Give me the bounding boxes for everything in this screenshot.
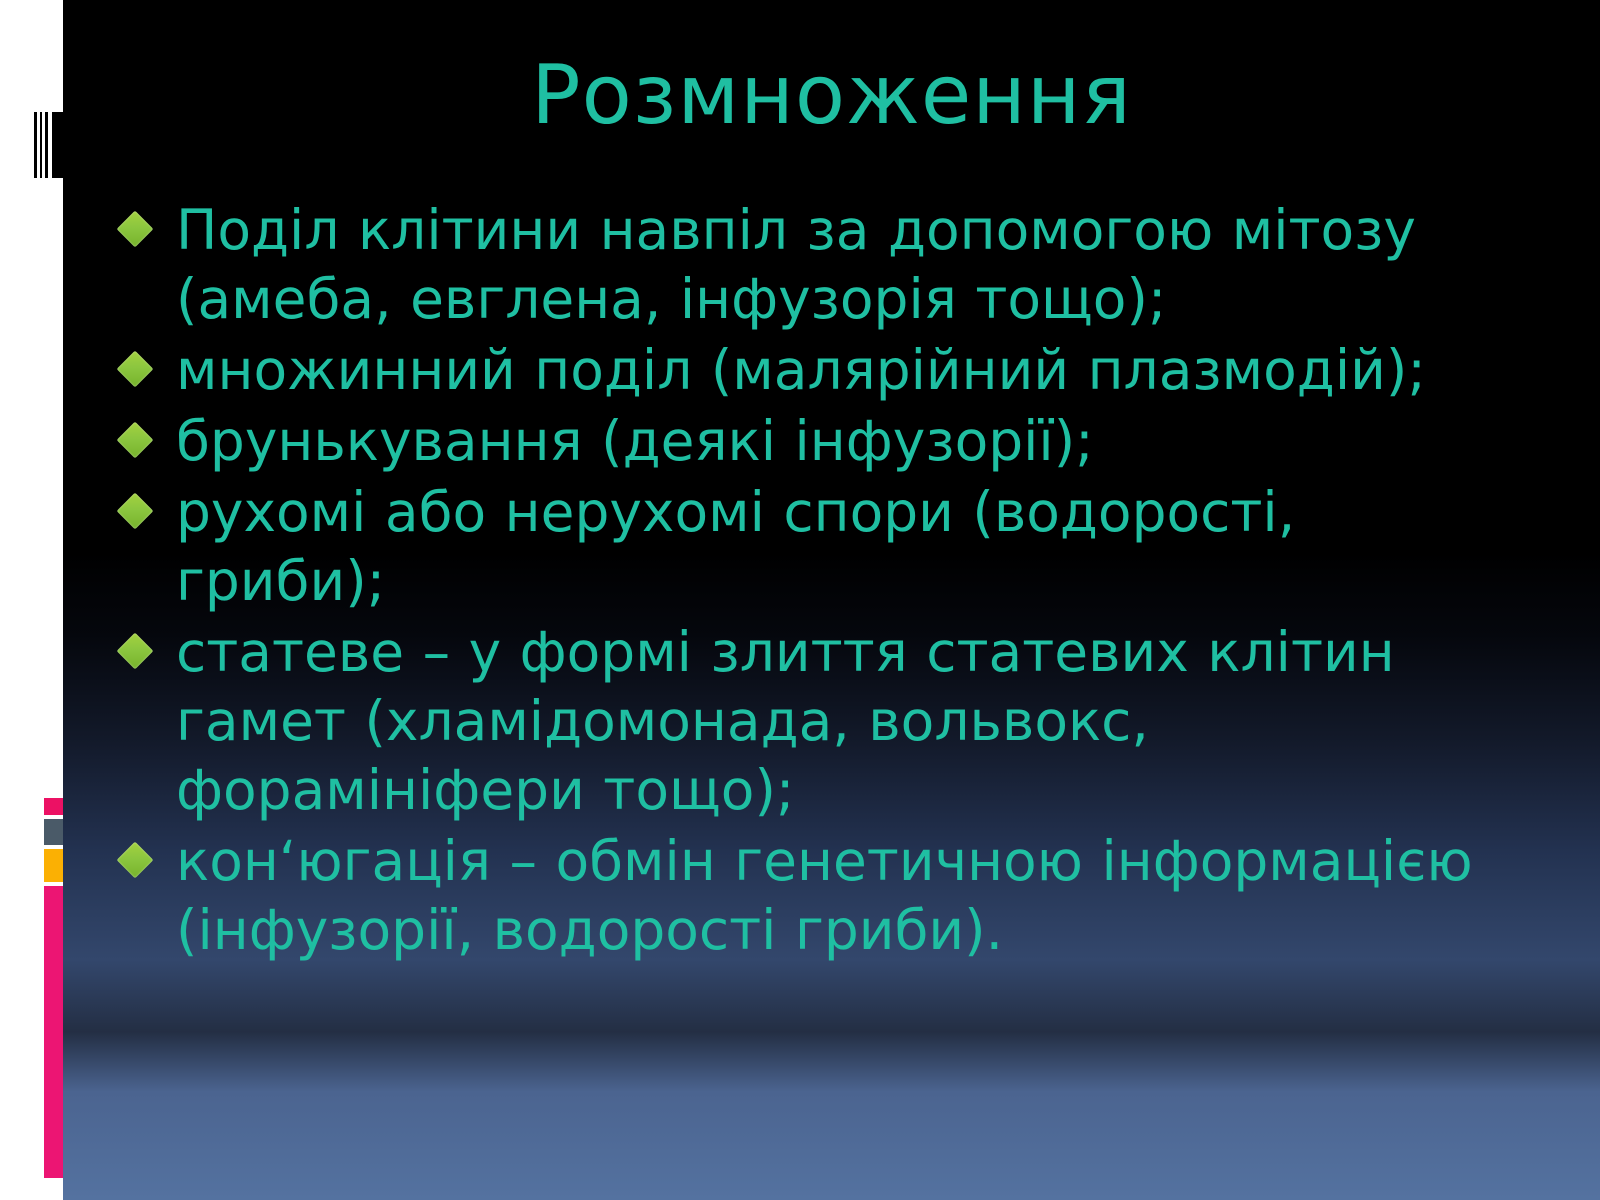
diamond-bullet-icon [118, 843, 154, 879]
slide-canvas: Розмноження Поділ клітини навпіл за допо… [0, 0, 1600, 1200]
list-item: Поділ клітини навпіл за допомогою мітозу… [118, 196, 1600, 334]
list-item-text: множинний поділ (малярійний плазмодій); [176, 336, 1600, 405]
diamond-bullet-icon [118, 634, 154, 670]
barcode-stripe [52, 112, 63, 178]
list-item-text: кон‘югація – обмін генетичною інформаціє… [176, 827, 1596, 965]
diamond-bullet-icon [118, 212, 154, 248]
list-item: брунькування (деякі інфузорії); [118, 407, 1600, 476]
list-item: статеве – у формі злиття статевих клітин… [118, 618, 1600, 825]
diamond-bullet-icon [118, 423, 154, 459]
slide-title: Розмноження [63, 48, 1600, 144]
rail-chip-pink-small [44, 798, 63, 815]
left-decorative-rail [0, 0, 63, 1200]
barcode-icon [34, 112, 63, 178]
diamond-bullet-icon [118, 352, 154, 388]
barcode-stripe [34, 112, 37, 178]
list-item: кон‘югація – обмін генетичною інформаціє… [118, 827, 1600, 965]
list-item: рухомі або нерухомі спори (водорості, гр… [118, 478, 1600, 616]
diamond-bullet-icon [118, 494, 154, 530]
bullet-list: Поділ клітини навпіл за допомогою мітозу… [118, 196, 1600, 965]
rail-chip-amber [44, 849, 63, 882]
barcode-stripe [40, 112, 42, 178]
list-item-text: статеве – у формі злиття статевих клітин… [176, 618, 1506, 825]
barcode-stripe [45, 112, 48, 178]
list-item-text: рухомі або нерухомі спори (водорості, гр… [176, 478, 1511, 616]
list-item: множинний поділ (малярійний плазмодій); [118, 336, 1600, 405]
rail-chip-magenta-long [44, 886, 63, 1178]
list-item-text: Поділ клітини навпіл за допомогою мітозу… [176, 196, 1421, 334]
rail-chip-slate [44, 819, 63, 845]
list-item-text: брунькування (деякі інфузорії); [176, 407, 1600, 476]
